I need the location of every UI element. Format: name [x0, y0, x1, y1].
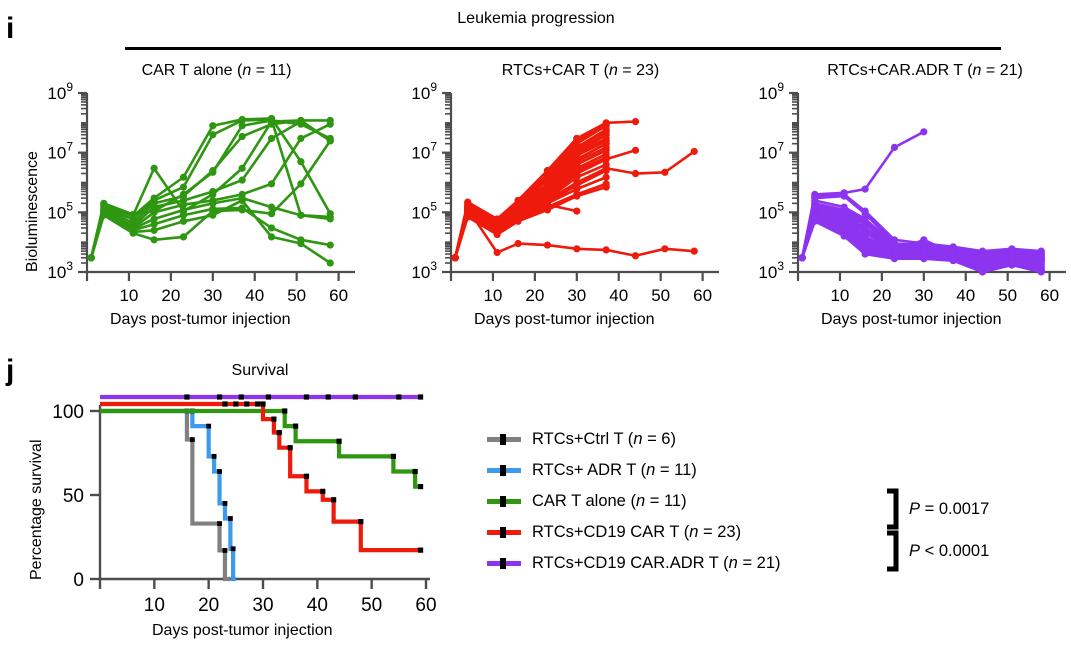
data-point — [209, 167, 216, 174]
pvalue-row-2: P < 0.0001 — [884, 530, 989, 572]
y-tick-label-1e5: 105 — [758, 199, 784, 222]
data-point — [297, 135, 304, 142]
data-point — [268, 135, 275, 142]
event-mark — [336, 439, 341, 444]
y-tick-label-1e5: 105 — [411, 199, 437, 222]
x-tick-label-50: 50 — [287, 286, 306, 305]
data-point — [891, 144, 898, 151]
event-mark — [228, 516, 233, 521]
data-point — [920, 255, 927, 262]
data-point — [603, 174, 610, 181]
chart-bioluminescence-rtcs-car-t: 103105107109102030405060 — [364, 0, 724, 300]
legend-label-rtcs-cd19-car-adr-t: RTCs+CD19 CAR.ADR T (n = 21) — [532, 554, 781, 573]
data-point — [327, 121, 334, 128]
censor-mark — [244, 401, 249, 406]
event-mark — [358, 519, 363, 524]
x-tick-label-30: 30 — [567, 286, 586, 305]
data-point — [209, 208, 216, 215]
data-point — [573, 193, 580, 200]
event-mark — [206, 424, 211, 429]
legend-label-rtcs-adr-t: RTCs+ ADR T (n = 11) — [532, 461, 697, 480]
data-point — [100, 212, 107, 219]
x-tick-label-10: 10 — [144, 595, 165, 616]
data-point — [268, 210, 275, 217]
data-point — [239, 206, 246, 213]
data-point — [494, 231, 501, 238]
censor-mark — [418, 484, 423, 489]
data-point — [573, 208, 580, 215]
y-tick-label-1e7: 107 — [411, 140, 437, 163]
event-mark — [304, 474, 309, 479]
censor-mark — [255, 401, 260, 406]
data-point — [1038, 268, 1045, 275]
data-point — [862, 186, 869, 193]
x-tick-label-20: 20 — [198, 595, 219, 616]
survival-legend: RTCs+Ctrl T (n = 6) RTCs+ ADR T (n = 11)… — [487, 424, 781, 579]
data-point — [151, 209, 158, 216]
data-point — [209, 188, 216, 195]
data-point — [573, 245, 580, 252]
data-point — [239, 177, 246, 184]
censor-mark — [217, 394, 222, 399]
data-point — [88, 254, 95, 261]
y-tick-label-1e9: 109 — [47, 80, 73, 103]
pvalue-text-1: P = 0.0017 — [909, 500, 989, 519]
censor-mark — [326, 394, 331, 399]
censor-mark — [418, 394, 423, 399]
data-point — [544, 167, 551, 174]
data-point — [632, 252, 639, 259]
data-point — [891, 255, 898, 262]
x-tick-label-20: 20 — [161, 286, 180, 305]
x-tick-label-40: 40 — [956, 286, 975, 305]
x-tick-label-20: 20 — [872, 286, 891, 305]
event-mark — [223, 548, 228, 553]
data-point — [494, 249, 501, 256]
y-tick-label-1e3: 103 — [758, 259, 784, 282]
data-point — [661, 169, 668, 176]
x-tick-label-50: 50 — [361, 595, 382, 616]
legend-swatch-rtcs-cd19-car-t — [487, 530, 521, 535]
legend-swatch-rtcs-cd19-car-adr-t — [487, 561, 521, 566]
event-mark — [271, 417, 276, 422]
data-point — [603, 246, 610, 253]
data-point — [841, 232, 848, 239]
data-point — [297, 212, 304, 219]
event-mark — [277, 430, 282, 435]
x-tick-label-60: 60 — [415, 595, 436, 616]
event-mark — [293, 424, 298, 429]
survival-curve — [100, 411, 421, 487]
x-tick-label-10: 10 — [483, 286, 502, 305]
survival-curve — [100, 404, 421, 550]
data-point — [239, 197, 246, 204]
data-point — [151, 165, 158, 172]
legend-swatch-rtcs-ctrl-t — [487, 437, 521, 442]
x-tick-label-40: 40 — [245, 286, 264, 305]
x-tick-label-60: 60 — [329, 286, 348, 305]
event-mark — [217, 521, 222, 526]
data-point — [691, 248, 698, 255]
y-tick-label-1e7: 107 — [758, 140, 784, 163]
y-tick-label-1e3: 103 — [411, 259, 437, 282]
pvalue-text-2: P < 0.0001 — [909, 542, 989, 561]
event-mark — [288, 445, 293, 450]
data-point — [1008, 262, 1015, 269]
data-point — [180, 174, 187, 181]
data-point — [920, 236, 927, 243]
event-mark — [260, 401, 265, 406]
event-mark — [231, 546, 236, 551]
x-tick-label-30: 30 — [914, 286, 933, 305]
data-point — [180, 218, 187, 225]
data-point — [327, 241, 334, 248]
legend-swatch-rtcs-adr-t — [487, 468, 521, 473]
data-point — [239, 165, 246, 172]
legend-item-rtcs-cd19-car-adr-t[interactable]: RTCs+CD19 CAR.ADR T (n = 21) — [487, 548, 781, 579]
data-point — [603, 167, 610, 174]
x-tick-label-40: 40 — [307, 595, 328, 616]
survival-curve — [100, 411, 230, 579]
data-point — [573, 135, 580, 142]
data-point — [632, 118, 639, 125]
pvalue-annotations: P = 0.0017 P < 0.0001 — [884, 488, 989, 572]
legend-item-rtcs-adr-t[interactable]: RTCs+ ADR T (n = 11) — [487, 455, 781, 486]
y-tick-label-100: 100 — [52, 402, 84, 423]
x-tick-label-60: 60 — [693, 286, 712, 305]
censor-mark — [233, 401, 238, 406]
data-point — [180, 233, 187, 240]
panel-i-xlabel-3: Days post-tumor injection — [821, 311, 1002, 329]
event-mark — [391, 454, 396, 459]
censor-mark — [222, 401, 227, 406]
data-point — [515, 218, 522, 225]
panel-i-xlabel-1: Days post-tumor injection — [110, 311, 291, 329]
event-mark — [190, 437, 195, 442]
data-point — [799, 254, 806, 261]
panel-j-xlabel: Days post-tumor injection — [152, 622, 333, 640]
survival-curve — [100, 411, 236, 579]
y-tick-label-50: 50 — [63, 486, 84, 507]
data-point — [862, 250, 869, 257]
data-point — [979, 268, 986, 275]
x-tick-label-20: 20 — [525, 286, 544, 305]
data-point — [950, 257, 957, 264]
event-mark — [331, 497, 336, 502]
data-point — [130, 230, 137, 237]
event-mark — [223, 501, 228, 506]
chart-bioluminescence-car-t-alone: 103105107109102030405060 — [0, 0, 360, 300]
data-point — [151, 227, 158, 234]
x-tick-label-30: 30 — [252, 595, 273, 616]
censor-mark — [304, 394, 309, 399]
data-point — [268, 233, 275, 240]
data-point — [180, 184, 187, 191]
data-point — [515, 197, 522, 204]
x-tick-label-10: 10 — [830, 286, 849, 305]
event-mark — [217, 469, 222, 474]
x-tick-label-50: 50 — [998, 286, 1017, 305]
data-point — [297, 180, 304, 187]
data-point — [297, 158, 304, 165]
data-point — [327, 259, 334, 266]
data-point — [239, 133, 246, 140]
y-tick-label-0: 0 — [73, 570, 84, 591]
data-point — [239, 117, 246, 124]
data-point — [811, 218, 818, 225]
pvalue-row-1: P = 0.0017 — [884, 488, 989, 530]
data-point — [661, 245, 668, 252]
censor-mark — [239, 394, 244, 399]
data-point — [209, 131, 216, 138]
censor-mark — [353, 394, 358, 399]
x-tick-label-60: 60 — [1040, 286, 1059, 305]
legend-item-car-t-alone[interactable]: CAR T alone (n = 11) — [487, 486, 781, 517]
legend-item-rtcs-ctrl-t[interactable]: RTCs+Ctrl T (n = 6) — [487, 424, 781, 455]
data-point — [632, 170, 639, 177]
bracket-icon-1 — [884, 488, 900, 530]
y-tick-label-1e7: 107 — [47, 140, 73, 163]
y-tick-label-1e3: 103 — [47, 259, 73, 282]
figure-root: i Leukemia progression Bioluminescence C… — [0, 0, 1071, 663]
legend-label-rtcs-ctrl-t: RTCs+Ctrl T (n = 6) — [532, 430, 676, 449]
legend-item-rtcs-cd19-car-t[interactable]: RTCs+CD19 CAR T (n = 23) — [487, 517, 781, 548]
data-point — [841, 193, 848, 200]
data-point — [209, 122, 216, 129]
data-point — [920, 128, 927, 135]
event-mark — [212, 454, 217, 459]
data-point — [544, 206, 551, 213]
censor-mark — [184, 394, 189, 399]
data-point — [297, 240, 304, 247]
legend-label-car-t-alone: CAR T alone (n = 11) — [532, 492, 687, 511]
event-mark — [282, 408, 287, 413]
event-mark — [413, 469, 418, 474]
event-mark — [320, 489, 325, 494]
panel-i-xlabel-2: Days post-tumor injection — [474, 311, 655, 329]
data-point — [327, 137, 334, 144]
data-point — [515, 240, 522, 247]
legend-swatch-car-t-alone — [487, 499, 521, 504]
x-tick-label-40: 40 — [609, 286, 628, 305]
censor-mark — [266, 394, 271, 399]
data-point — [268, 180, 275, 187]
data-point — [268, 121, 275, 128]
chart-bioluminescence-rtcs-car-adr-t: 103105107109102030405060 — [711, 0, 1071, 300]
data-point — [327, 215, 334, 222]
data-point — [151, 236, 158, 243]
data-point — [464, 205, 471, 212]
x-tick-label-50: 50 — [651, 286, 670, 305]
censor-mark — [396, 394, 401, 399]
x-tick-label-30: 30 — [203, 286, 222, 305]
legend-label-rtcs-cd19-car-t: RTCs+CD19 CAR T (n = 23) — [532, 523, 741, 542]
data-point — [632, 147, 639, 154]
bracket-icon-2 — [884, 530, 900, 572]
censor-mark — [418, 548, 423, 553]
data-point — [603, 184, 610, 191]
data-point — [452, 254, 459, 261]
data-point — [544, 241, 551, 248]
y-tick-label-1e9: 109 — [758, 80, 784, 103]
chart-survival-km: 050100102030405060 — [0, 340, 470, 630]
y-tick-label-1e5: 105 — [47, 199, 73, 222]
x-tick-label-10: 10 — [119, 286, 138, 305]
data-point — [297, 118, 304, 125]
data-point — [268, 224, 275, 231]
y-tick-label-1e9: 109 — [411, 80, 437, 103]
data-point — [691, 148, 698, 155]
